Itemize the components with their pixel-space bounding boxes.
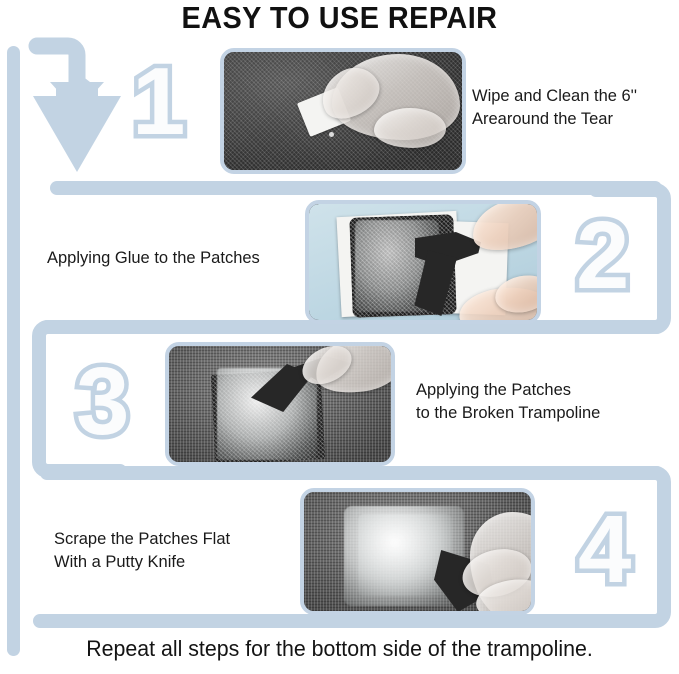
step-number-3: 3 [76, 354, 129, 450]
page-title: EASY TO USE REPAIR [24, 0, 655, 36]
step-row-4: Scrape the Patches Flat With a Putty Kni… [0, 484, 679, 624]
step-caption-3: Applying the Patches to the Broken Tramp… [416, 379, 666, 425]
step-caption-4: Scrape the Patches Flat With a Putty Kni… [54, 528, 304, 574]
step-image-3 [165, 342, 395, 466]
step-row-2: Applying Glue to the Patches 2 [0, 192, 679, 332]
step-number-2: 2 [576, 208, 629, 304]
step-caption-2: Applying Glue to the Patches [47, 247, 317, 270]
step-image-4 [300, 488, 535, 615]
step-image-2 [305, 200, 541, 324]
step-row-3: 3 Applying the Patches to the Broken Tra… [0, 336, 679, 476]
step-number-4: 4 [578, 502, 631, 598]
footer-note: Repeat all steps for the bottom side of … [10, 636, 669, 662]
step-row-1: 1 Wipe and Clean the 6'' Arearound the T… [0, 40, 679, 180]
step-number-1: 1 [132, 54, 185, 150]
step-caption-1: Wipe and Clean the 6'' Arearound the Tea… [472, 85, 677, 131]
step-image-1 [220, 48, 466, 174]
